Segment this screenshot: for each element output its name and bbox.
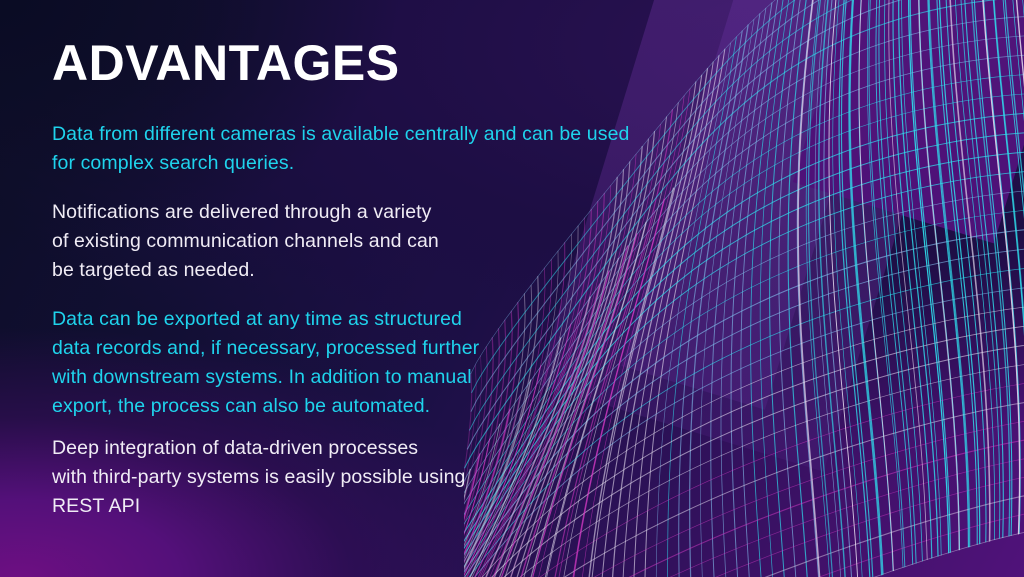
text-column: ADVANTAGES Data from different cameras i… xyxy=(52,0,712,577)
paragraph-availability: Data from different cameras is available… xyxy=(52,120,732,178)
paragraph-notifications: Notifications are delivered through a va… xyxy=(52,198,572,285)
page-title: ADVANTAGES xyxy=(52,36,400,91)
paragraph-integration: Deep integration of data-driven processe… xyxy=(52,434,572,521)
presentation-slide: ADVANTAGES Data from different cameras i… xyxy=(0,0,1024,577)
paragraph-export: Data can be exported at any time as stru… xyxy=(52,305,592,421)
